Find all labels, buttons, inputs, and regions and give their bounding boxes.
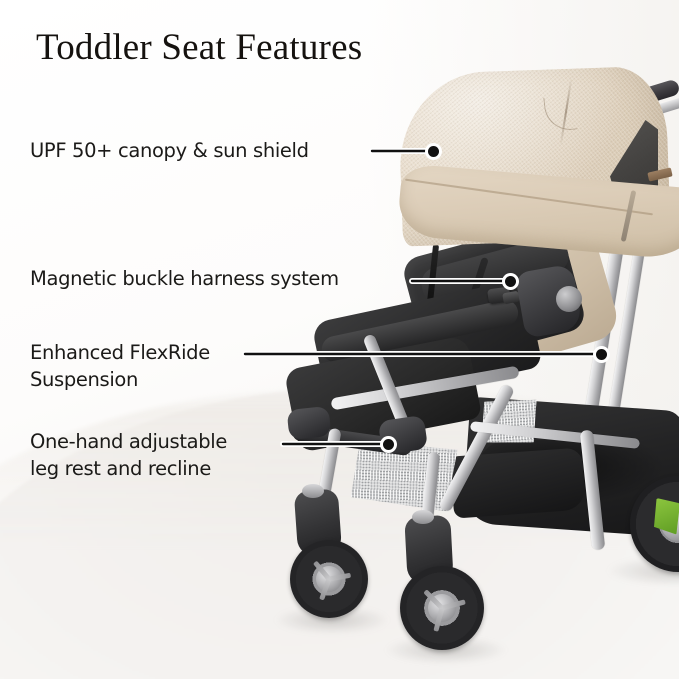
callout-canopy: UPF 50+ canopy & sun shield <box>30 137 309 164</box>
callout-suspension-line2: Suspension <box>30 366 210 393</box>
front-wheel-right <box>400 566 484 650</box>
callout-dot-suspension <box>596 349 607 360</box>
callout-legrest: One-hand adjustable leg rest and recline <box>30 428 227 482</box>
leg-rest-hinge-left <box>287 406 332 440</box>
callout-suspension: Enhanced FlexRide Suspension <box>30 339 210 393</box>
front-wheel-left <box>290 540 368 618</box>
callout-canopy-line1: UPF 50+ canopy & sun shield <box>30 139 309 162</box>
callout-suspension-line1: Enhanced FlexRide <box>30 341 210 364</box>
callout-harness: Magnetic buckle harness system <box>30 265 339 292</box>
callout-dot-legrest <box>383 439 394 450</box>
feature-callout-diagram: Toddler Seat Features UPF 50+ canopy & s… <box>0 0 679 679</box>
callout-legrest-line2: leg rest and recline <box>30 455 227 482</box>
callout-dot-harness <box>505 276 516 287</box>
recline-dial <box>556 286 582 312</box>
callout-legrest-line1: One-hand adjustable <box>30 430 227 453</box>
page-title: Toddler Seat Features <box>36 26 362 70</box>
front-left-swivel-cap <box>302 484 324 498</box>
front-right-swivel-cap <box>412 510 434 524</box>
callout-harness-line1: Magnetic buckle harness system <box>30 267 339 290</box>
callout-dot-canopy <box>428 146 439 157</box>
